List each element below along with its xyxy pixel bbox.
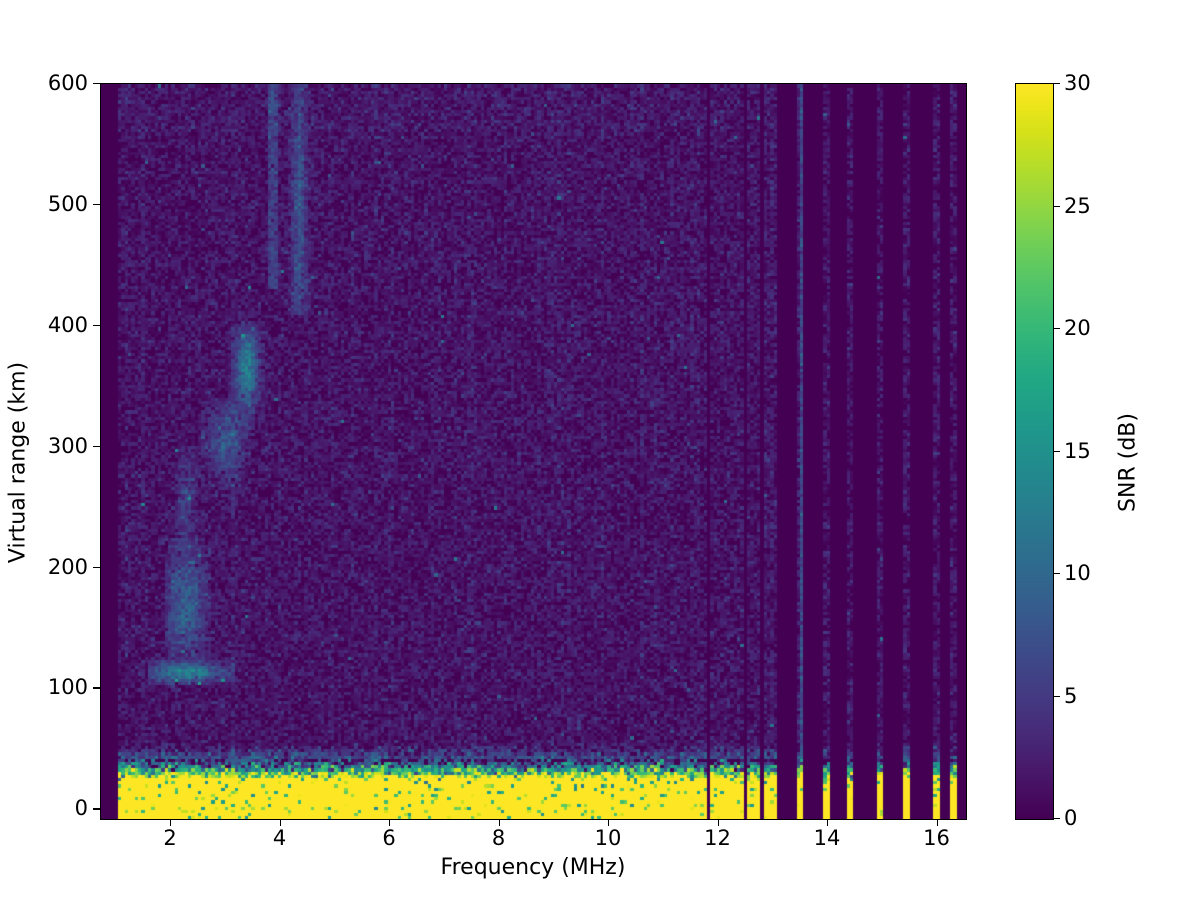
x-tick-mark [280,819,281,826]
x-tick-label: 14 [814,826,841,850]
colorbar-tick-mark [1053,573,1060,574]
y-tick-mark [93,808,100,809]
y-tick-label: 600 [48,71,88,95]
colorbar-tick-label: 0 [1064,806,1077,830]
x-tick-label: 4 [273,826,286,850]
x-tick-label: 2 [163,826,176,850]
ionogram-figure: IRF Kiruna Ionosonde KI167 2026-03-13 21… [0,0,1200,900]
y-tick-label: 500 [48,192,88,216]
ionogram-heatmap[interactable] [101,84,966,819]
colorbar-tick-label: 25 [1064,194,1091,218]
colorbar-tick-label: 20 [1064,316,1091,340]
y-tick-mark [93,446,100,447]
y-tick-label: 400 [48,313,88,337]
y-tick-mark [93,687,100,688]
y-tick-mark [93,83,100,84]
colorbar-tick-label: 10 [1064,561,1091,585]
ionogram-plot-area[interactable] [100,83,967,820]
y-tick-label: 0 [75,796,88,820]
y-tick-mark [93,204,100,205]
colorbar-tick-mark [1053,206,1060,207]
x-tick-label: 8 [492,826,505,850]
colorbar-tick-mark [1053,451,1060,452]
colorbar-tick-mark [1053,83,1060,84]
colorbar-tick-label: 15 [1064,439,1091,463]
colorbar-gradient [1016,84,1053,819]
colorbar-tick-mark [1053,328,1060,329]
x-tick-label: 12 [704,826,731,850]
x-tick-label: 6 [382,826,395,850]
x-tick-mark [608,819,609,826]
y-tick-label: 100 [48,675,88,699]
y-tick-label: 200 [48,555,88,579]
x-tick-mark [499,819,500,826]
x-tick-mark [170,819,171,826]
x-tick-label: 10 [595,826,622,850]
y-tick-label: 300 [48,434,88,458]
x-tick-mark [718,819,719,826]
colorbar-title: SNR (dB) [1116,313,1141,613]
y-axis-title: Virtual range (km) [6,313,31,613]
x-axis-title: Frequency (MHz) [100,855,966,880]
x-tick-label: 16 [923,826,950,850]
colorbar-tick-mark [1053,818,1060,819]
colorbar-tick-label: 5 [1064,684,1077,708]
x-tick-mark [389,819,390,826]
colorbar[interactable] [1015,83,1054,820]
y-tick-mark [93,325,100,326]
x-tick-mark [937,819,938,826]
y-tick-mark [93,567,100,568]
x-tick-mark [827,819,828,826]
colorbar-tick-label: 30 [1064,71,1091,95]
colorbar-tick-mark [1053,696,1060,697]
